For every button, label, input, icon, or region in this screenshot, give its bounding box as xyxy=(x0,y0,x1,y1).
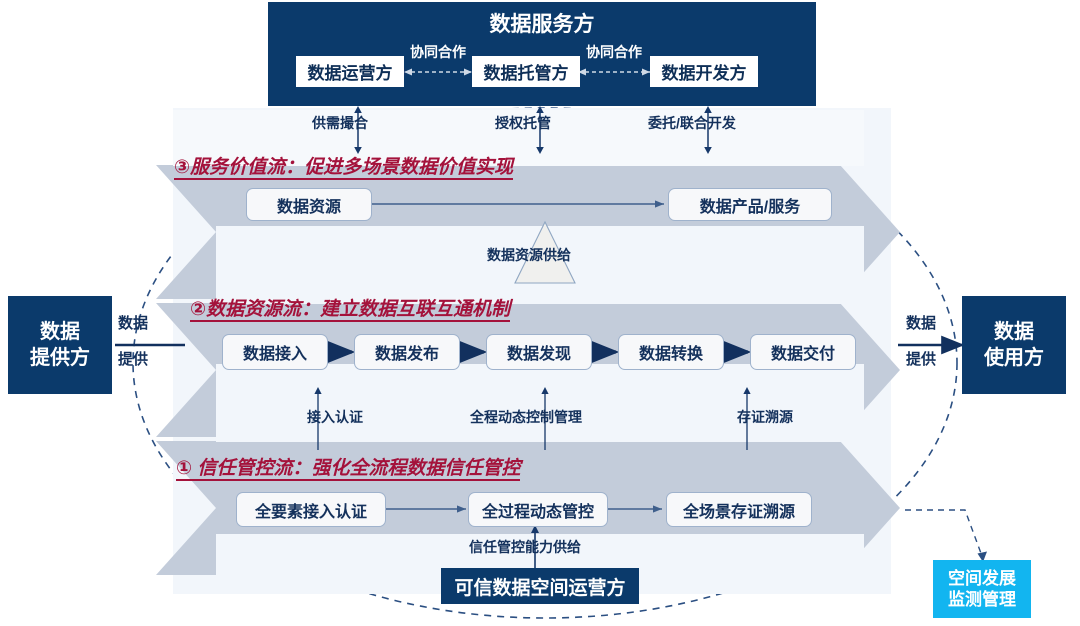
corner-note-box[interactable]: 空间发展 监测管理 xyxy=(933,560,1031,618)
band-resource-title: ②数据资源流：建立数据互联互通机制 xyxy=(190,300,510,322)
band-resource-box-4[interactable]: 数据转换 xyxy=(618,334,724,370)
left-arrow-label: 数据 提供 xyxy=(118,314,176,369)
band-resource-box-4-label: 数据转换 xyxy=(639,340,703,364)
band-resource-box-1[interactable]: 数据接入 xyxy=(222,334,328,370)
banner-connector-label-1: 协同合作 xyxy=(404,45,472,60)
right-arrow-label-line2: 提供 xyxy=(906,350,936,370)
left-arrow-label-line1: 数据 xyxy=(118,314,148,334)
operator-box[interactable]: 可信数据空间运营方 xyxy=(441,568,639,604)
band-resource-box-5[interactable]: 数据交付 xyxy=(750,334,856,370)
endpoint-consumer-line1: 数据 xyxy=(994,319,1034,345)
left-arrow-label-line2: 提供 xyxy=(118,350,148,370)
corner-note-line1: 空间发展 xyxy=(948,568,1016,589)
corner-note-line2: 监测管理 xyxy=(948,589,1016,610)
endpoint-provider-line1: 数据 xyxy=(40,319,80,345)
band-trust-box-1[interactable]: 全要素接入认证 xyxy=(236,492,386,527)
diagram-canvas: 数据服务方 数据运营方 数据托管方 数据开发方 协同合作 协同合作 供需撮合 授… xyxy=(0,0,1080,626)
band-resource-box-1-label: 数据接入 xyxy=(243,340,307,364)
band-resource-box-3[interactable]: 数据发现 xyxy=(486,334,592,370)
right-arrow-label-line1: 数据 xyxy=(906,314,936,334)
band-service-box-resource[interactable]: 数据资源 xyxy=(246,188,372,221)
vlink-bottom-label-1: 接入认证 xyxy=(307,410,363,425)
band-trust-box-2[interactable]: 全过程动态管控 xyxy=(468,492,608,527)
diagram-vector-layer xyxy=(0,0,1080,626)
vlink-bottom-label-2: 全程动态控制管理 xyxy=(470,410,582,425)
band-gap-strip-bottom xyxy=(216,364,864,442)
trust-supply-label: 信任管控能力供给 xyxy=(469,540,581,555)
band-resource-box-2-label: 数据发布 xyxy=(375,340,439,364)
band-service-title: ③服务价值流：促进多场景数据价值实现 xyxy=(174,158,513,180)
banner-box-developer[interactable]: 数据开发方 xyxy=(650,56,758,87)
band-trust-box-3[interactable]: 全场景存证溯源 xyxy=(666,492,812,527)
banner-box-custodian-label: 数据托管方 xyxy=(484,59,569,84)
band-resource-box-5-label: 数据交付 xyxy=(771,340,835,364)
banner-box-developer-label: 数据开发方 xyxy=(662,59,747,84)
vlink-bottom-label-3: 存证溯源 xyxy=(737,410,793,425)
top-banner-title: 数据服务方 xyxy=(268,14,816,36)
banner-box-operator-label: 数据运营方 xyxy=(308,59,393,84)
vlink-top-label-2: 授权托管 xyxy=(495,116,551,131)
operator-box-label: 可信数据空间运营方 xyxy=(454,573,625,600)
vlink-top-label-1: 供需撮合 xyxy=(312,116,368,131)
vlink-top-label-3: 委托/联合开发 xyxy=(648,116,736,131)
right-arrow-label: 数据 提供 xyxy=(906,314,964,369)
band-trust-box-1-label: 全要素接入认证 xyxy=(255,498,367,522)
corner-leader-line xyxy=(905,510,982,556)
resource-supply-label: 数据资源供给 xyxy=(487,248,571,263)
band-service-box-resource-label: 数据资源 xyxy=(277,193,341,217)
band-resource-box-2[interactable]: 数据发布 xyxy=(354,334,460,370)
band-trust-box-3-label: 全场景存证溯源 xyxy=(683,498,795,522)
band-trust-title: ① 信任管控流：强化全流程数据信任管控 xyxy=(176,459,520,481)
endpoint-consumer-line2: 使用方 xyxy=(984,345,1044,371)
endpoint-consumer[interactable]: 数据 使用方 xyxy=(962,296,1066,394)
band-service-box-product[interactable]: 数据产品/服务 xyxy=(668,188,832,221)
banner-box-operator[interactable]: 数据运营方 xyxy=(296,56,404,87)
endpoint-provider-line2: 提供方 xyxy=(30,345,90,371)
band-trust-box-2-label: 全过程动态管控 xyxy=(482,498,594,522)
band-service-box-product-label: 数据产品/服务 xyxy=(700,193,800,217)
banner-box-custodian[interactable]: 数据托管方 xyxy=(472,56,580,87)
banner-connector-label-2: 协同合作 xyxy=(580,45,648,60)
band-resource-box-3-label: 数据发现 xyxy=(507,340,571,364)
endpoint-provider[interactable]: 数据 提供方 xyxy=(8,296,112,394)
